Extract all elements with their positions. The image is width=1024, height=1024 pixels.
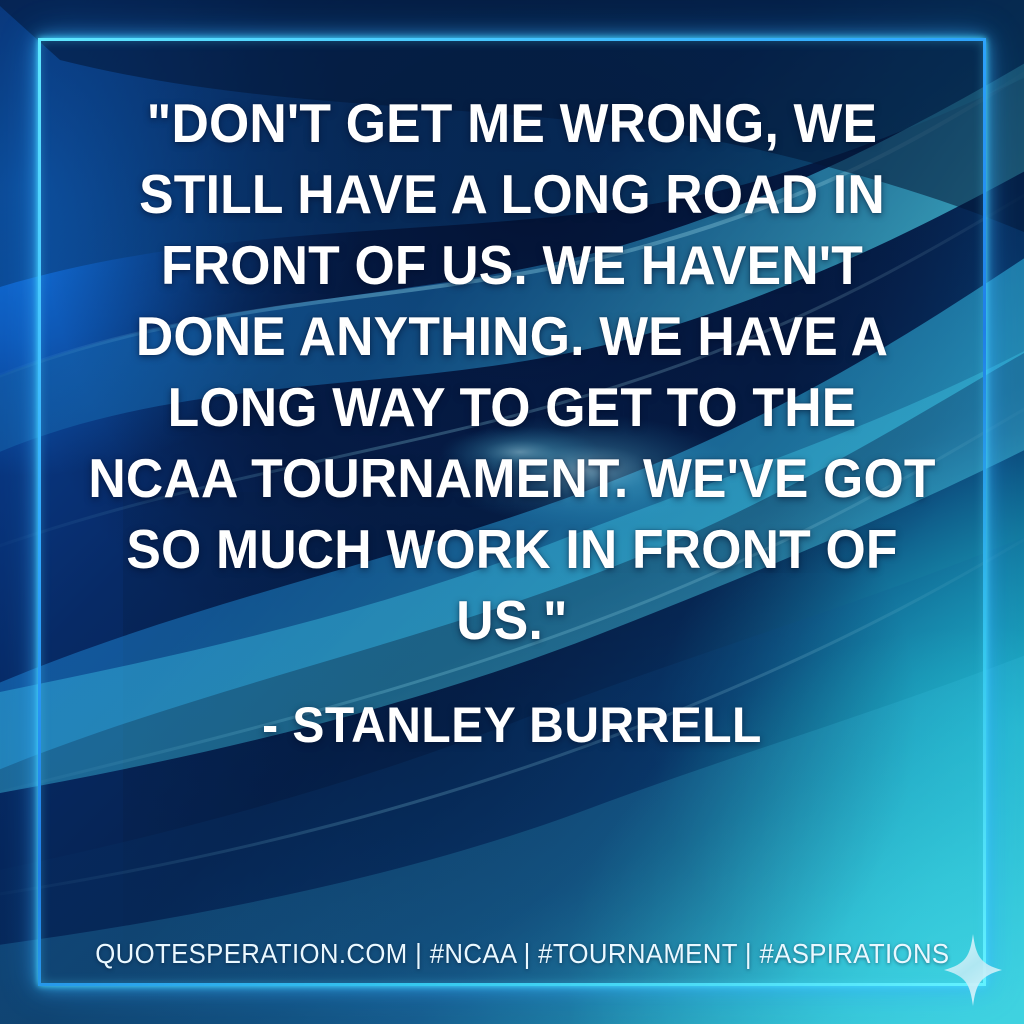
quote-card: "DON'T GET ME WRONG, WE STILL HAVE A LON… (0, 0, 1024, 1024)
sparkle-icon (942, 932, 1004, 1008)
footer-attribution: QUOTESPERATION.COM | #NCAA | #TOURNAMENT… (95, 938, 905, 970)
quote-author: - STANLEY BURRELL (70, 696, 953, 754)
quote-text: "DON'T GET ME WRONG, WE STILL HAVE A LON… (80, 88, 945, 656)
